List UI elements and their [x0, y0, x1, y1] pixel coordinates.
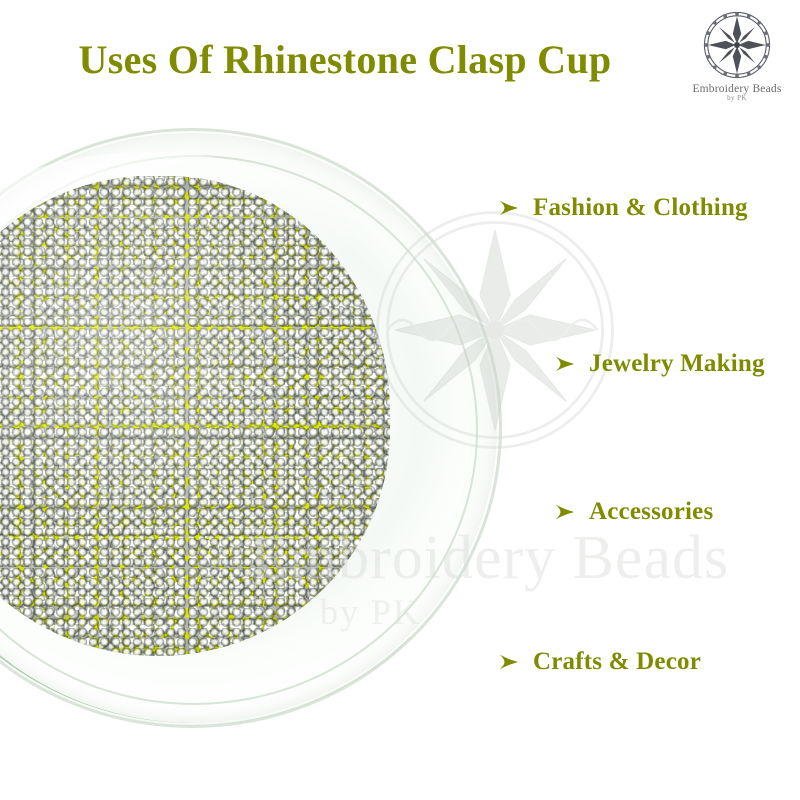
- use-item-label: Accessories: [589, 498, 713, 526]
- logo-star-emblem-icon: [696, 8, 778, 82]
- rhinestone-clasp-cup-beads: [0, 176, 390, 656]
- uses-list: Fashion & Clothing Jewelry Making Access…: [480, 170, 800, 700]
- product-photo: [0, 128, 502, 728]
- arrowhead-right-icon: [498, 197, 520, 219]
- logo-brand-sub: by PK: [682, 94, 792, 102]
- brand-logo[interactable]: Embroidery Beads by PK: [682, 6, 792, 114]
- arrowhead-right-icon: [554, 501, 576, 523]
- use-item-fashion-clothing[interactable]: Fashion & Clothing: [498, 194, 748, 222]
- use-item-label: Fashion & Clothing: [533, 194, 748, 222]
- page-title: Uses Of Rhinestone Clasp Cup: [0, 38, 690, 82]
- use-item-accessories[interactable]: Accessories: [554, 498, 713, 526]
- use-item-label: Jewelry Making: [589, 350, 765, 378]
- use-item-crafts-decor[interactable]: Crafts & Decor: [498, 648, 701, 676]
- arrowhead-right-icon: [498, 651, 520, 673]
- use-item-jewelry-making[interactable]: Jewelry Making: [554, 350, 765, 378]
- use-item-label: Crafts & Decor: [533, 648, 701, 676]
- arrowhead-right-icon: [554, 353, 576, 375]
- infographic-page: Embroidery Beads by PK Uses Of Rhineston…: [0, 0, 800, 800]
